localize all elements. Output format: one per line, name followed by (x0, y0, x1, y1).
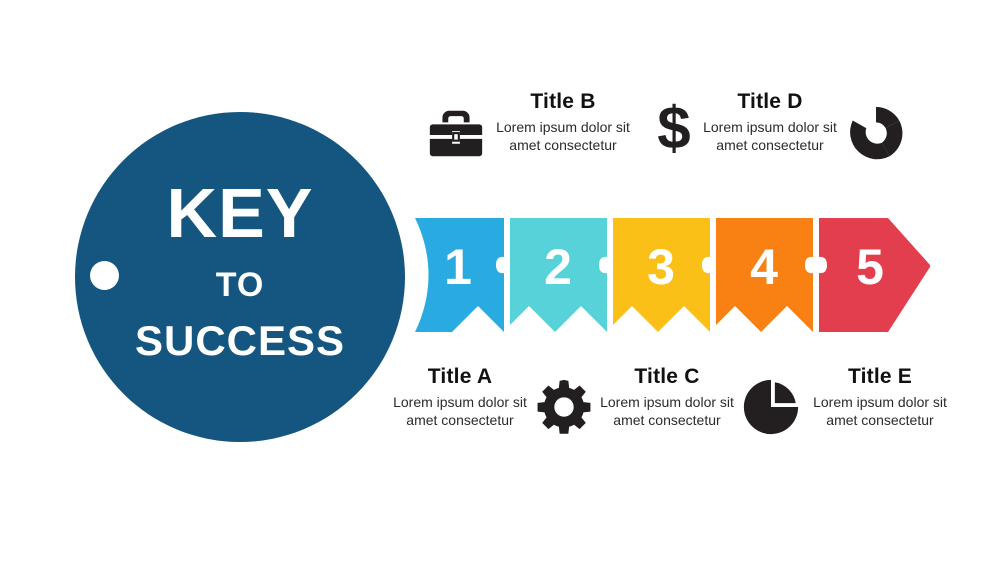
item-block-e: Title E Lorem ipsum dolor sit amet conse… (800, 365, 960, 430)
item-title-e: Title E (800, 365, 960, 388)
item-desc-a: Lorem ipsum dolor sit amet consectetur (380, 394, 540, 430)
item-block-b: Title B Lorem ipsum dolor sit amet conse… (483, 90, 643, 155)
svg-text:$: $ (657, 100, 690, 161)
infographic-canvas: Adobe Stock | #480746505 KEY TO SUCCESS … (0, 0, 1000, 563)
key-title-line1: KEY (95, 178, 385, 248)
item-block-c: Title C Lorem ipsum dolor sit amet conse… (587, 365, 747, 430)
item-block-a: Title A Lorem ipsum dolor sit amet conse… (380, 365, 540, 430)
item-desc-e: Lorem ipsum dolor sit amet consectetur (800, 394, 960, 430)
item-desc-b: Lorem ipsum dolor sit amet consectetur (483, 119, 643, 155)
item-title-d: Title D (690, 90, 850, 113)
key-title: KEY TO SUCCESS (95, 178, 385, 362)
banner-number-2: 2 (544, 239, 572, 295)
item-desc-d: Lorem ipsum dolor sit amet consectetur (690, 119, 850, 155)
banner-number-1: 1 (444, 239, 472, 295)
item-block-d: Title D Lorem ipsum dolor sit amet conse… (690, 90, 850, 155)
key-title-line3: SUCCESS (95, 320, 385, 362)
banner-number-3: 3 (647, 239, 675, 295)
item-title-c: Title C (587, 365, 747, 388)
item-title-a: Title A (380, 365, 540, 388)
banner-number-5: 5 (856, 239, 884, 295)
cycle-donut-icon (845, 103, 907, 165)
pie-chart-icon (740, 376, 802, 438)
banner-number-4: 4 (750, 239, 778, 295)
steps-banner-strip: 1 2 3 4 5 (400, 205, 940, 345)
item-title-b: Title B (483, 90, 643, 113)
key-title-line2: TO (95, 268, 385, 302)
briefcase-icon (425, 103, 487, 165)
gear-icon (533, 376, 595, 438)
item-desc-c: Lorem ipsum dolor sit amet consectetur (587, 394, 747, 430)
